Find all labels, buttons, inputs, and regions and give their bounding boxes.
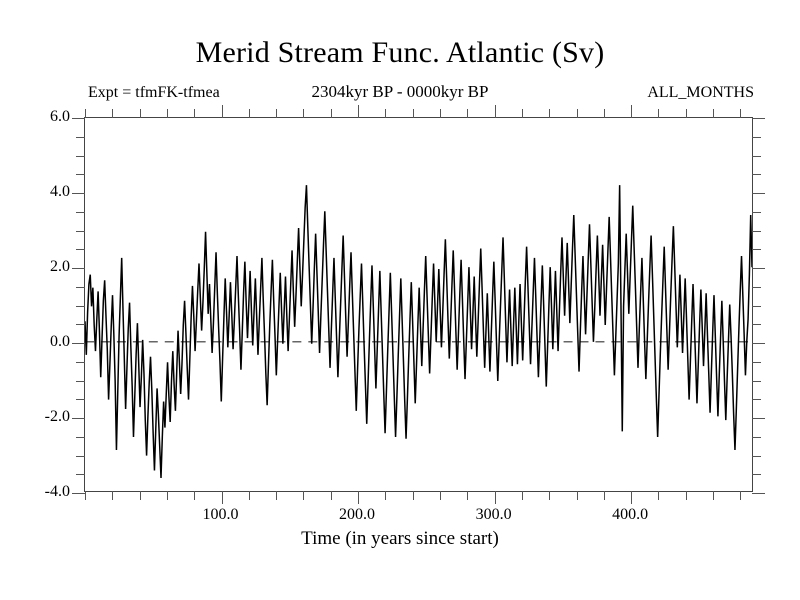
data-series-line [85, 118, 752, 491]
months-label: ALL_MONTHS [647, 84, 754, 102]
y-tick-label: 2.0 [10, 258, 70, 276]
x-tick-label: 300.0 [449, 506, 539, 524]
plot-frame [84, 117, 753, 492]
x-tick-label: 400.0 [585, 506, 675, 524]
plot-area [85, 118, 752, 491]
x-axis-title: Time (in years since start) [0, 528, 800, 550]
chart-title: Merid Stream Func. Atlantic (Sv) [0, 36, 800, 70]
series-path [85, 185, 752, 478]
chart-page: Merid Stream Func. Atlantic (Sv) Expt = … [0, 0, 800, 600]
y-tick-label: 0.0 [10, 333, 70, 351]
y-tick-label: 6.0 [10, 108, 70, 126]
y-tick-label: 4.0 [10, 183, 70, 201]
x-tick-label: 200.0 [312, 506, 402, 524]
y-tick-label: -2.0 [10, 408, 70, 426]
x-tick-label: 100.0 [176, 506, 266, 524]
y-tick-label: -4.0 [10, 483, 70, 501]
